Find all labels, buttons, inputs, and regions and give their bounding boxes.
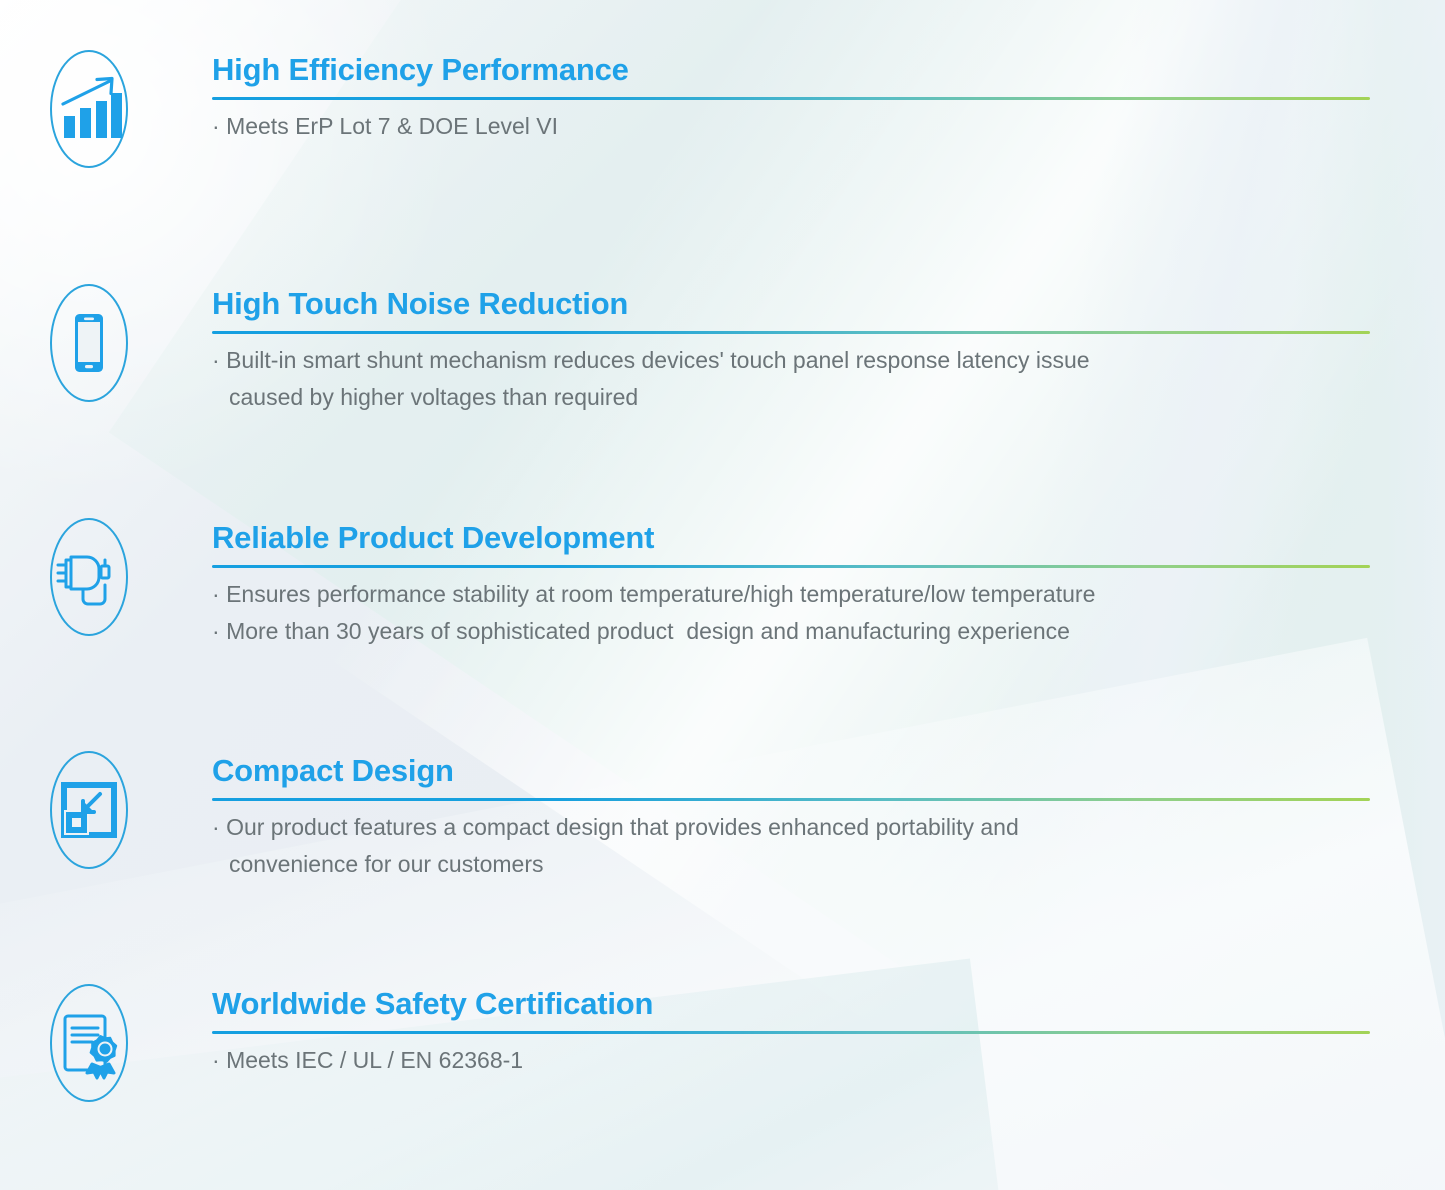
feature-divider [212, 565, 1370, 568]
feature-item-reliable-product-development: Reliable Product Development · Ensures p… [0, 518, 1445, 650]
feature-icon-wrap [0, 518, 126, 636]
feature-divider [212, 798, 1370, 801]
certificate-award-icon [50, 984, 128, 1102]
bullet-line: convenience for our customers [212, 846, 1445, 883]
list-item: · Meets IEC / UL / EN 62368-1 [212, 1042, 1445, 1079]
feature-content: High Efficiency Performance · Meets ErP … [126, 50, 1445, 145]
feature-icon-wrap [0, 751, 126, 869]
feature-icon-wrap [0, 50, 126, 168]
list-item: · Meets ErP Lot 7 & DOE Level VI [212, 108, 1445, 145]
feature-content: Worldwide Safety Certification · Meets I… [126, 984, 1445, 1079]
feature-title: Worldwide Safety Certification [212, 986, 1445, 1022]
list-item: · Ensures performance stability at room … [212, 576, 1445, 613]
bullet-line: Our product features a compact design th… [226, 814, 1019, 840]
feature-highlights-page: High Efficiency Performance · Meets ErP … [0, 0, 1445, 1190]
feature-content: High Touch Noise Reduction · Built-in sm… [126, 284, 1445, 416]
bar-chart-growth-icon [50, 50, 128, 168]
feature-item-worldwide-safety-certification: Worldwide Safety Certification · Meets I… [0, 984, 1445, 1102]
feature-divider [212, 1031, 1370, 1034]
feature-title: Compact Design [212, 753, 1445, 789]
list-item: · More than 30 years of sophisticated pr… [212, 613, 1445, 650]
bullet-line: Built-in smart shunt mechanism reduces d… [226, 347, 1090, 373]
compact-shrink-icon [50, 751, 128, 869]
feature-bullets: · Meets IEC / UL / EN 62368-1 [212, 1042, 1445, 1079]
list-item: · Built-in smart shunt mechanism reduces… [212, 342, 1445, 417]
smartphone-icon [50, 284, 128, 402]
bullet-marker: · [212, 1047, 220, 1073]
bullet-marker: · [212, 113, 220, 139]
power-adapter-icon [50, 518, 128, 636]
feature-title: High Efficiency Performance [212, 52, 1445, 88]
feature-title: Reliable Product Development [212, 520, 1445, 556]
feature-content: Compact Design · Our product features a … [126, 751, 1445, 883]
feature-icon-wrap [0, 984, 126, 1102]
feature-bullets: · Meets ErP Lot 7 & DOE Level VI [212, 108, 1445, 145]
feature-icon-wrap [0, 284, 126, 402]
feature-divider [212, 97, 1370, 100]
bullet-line: caused by higher voltages than required [212, 379, 1445, 416]
bullet-line: Ensures performance stability at room te… [226, 581, 1095, 607]
bullet-line: More than 30 years of sophisticated prod… [226, 618, 1070, 644]
feature-divider [212, 331, 1370, 334]
bullet-marker: · [212, 618, 220, 644]
bullet-line: Meets IEC / UL / EN 62368-1 [226, 1047, 523, 1073]
feature-bullets: · Our product features a compact design … [212, 809, 1445, 884]
feature-item-high-efficiency-performance: High Efficiency Performance · Meets ErP … [0, 50, 1445, 168]
feature-bullets: · Built-in smart shunt mechanism reduces… [212, 342, 1445, 417]
feature-title: High Touch Noise Reduction [212, 286, 1445, 322]
feature-bullets: · Ensures performance stability at room … [212, 576, 1445, 651]
bullet-line: Meets ErP Lot 7 & DOE Level VI [226, 113, 558, 139]
feature-content: Reliable Product Development · Ensures p… [126, 518, 1445, 650]
bullet-marker: · [212, 814, 220, 840]
list-item: · Our product features a compact design … [212, 809, 1445, 884]
background-band-bottom [0, 638, 1445, 1190]
feature-item-compact-design: Compact Design · Our product features a … [0, 751, 1445, 883]
bullet-marker: · [212, 347, 220, 373]
feature-item-high-touch-noise-reduction: High Touch Noise Reduction · Built-in sm… [0, 284, 1445, 416]
bullet-marker: · [212, 581, 220, 607]
